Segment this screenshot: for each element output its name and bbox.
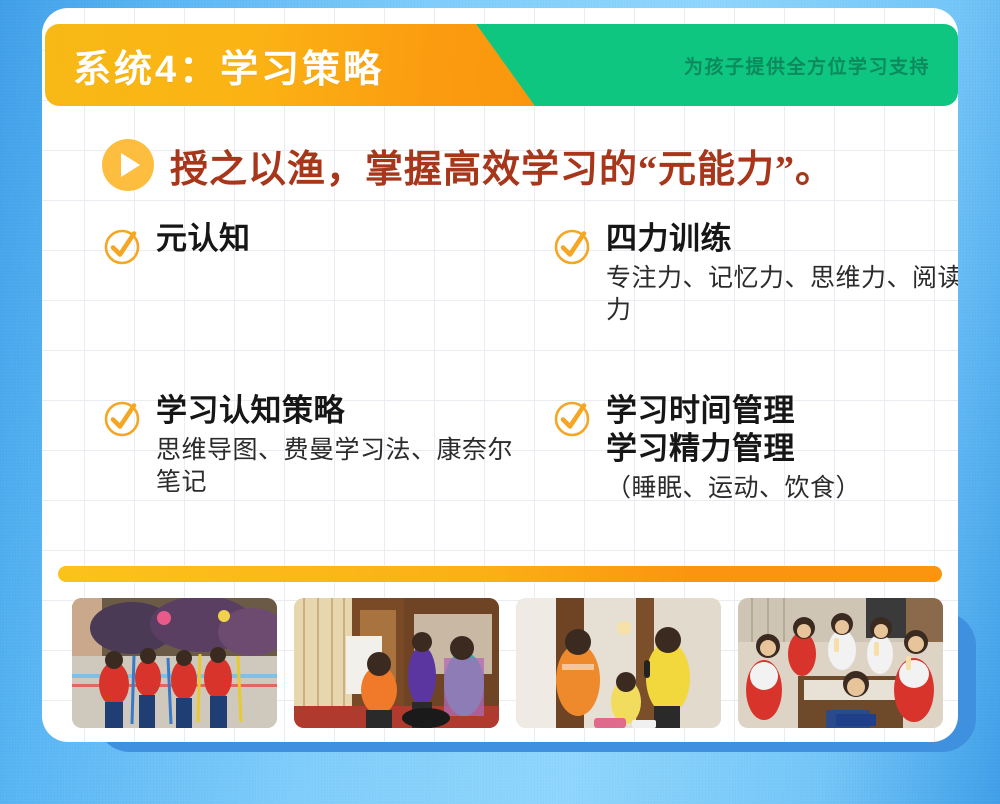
feature-title: 元认知 — [156, 220, 251, 258]
feature-body: 学习认知策略 思维导图、费曼学习法、康奈尔笔记 — [156, 392, 514, 499]
headline-row: 授之以渔，掌握高效学习的“元能力”。 — [102, 134, 958, 196]
photo-strip — [72, 598, 946, 730]
feature-item-four-powers: 四力训练 专注力、记忆力、思维力、阅读力 — [552, 220, 958, 392]
check-circle-icon — [552, 226, 592, 266]
photo-classroom-sharing — [294, 598, 499, 728]
photo-group-discussion — [738, 598, 943, 728]
page-title: 系统4：学习策略 — [45, 38, 384, 93]
content-card: 为孩子提供全方位学习支持 系统4：学习策略 授之以渔，掌握高效学习的“元能力”。… — [42, 8, 958, 742]
feature-item-time-energy-management: 学习时间管理 学习精力管理 （睡眠、运动、饮食） — [552, 392, 958, 564]
check-circle-icon — [552, 398, 592, 438]
check-circle-icon — [102, 398, 142, 438]
feature-grid: 元认知 四力训练 专注力、记忆力、思维力、阅读力 — [102, 220, 958, 560]
title-banner: 系统4：学习策略 — [45, 24, 535, 106]
headline-text: 授之以渔，掌握高效学习的“元能力”。 — [170, 138, 834, 193]
feature-title: 学习认知策略 — [156, 392, 514, 430]
feature-subtitle: （睡眠、运动、饮食） — [606, 472, 861, 505]
section-divider — [58, 566, 942, 582]
feature-body: 学习时间管理 学习精力管理 （睡眠、运动、饮食） — [606, 392, 861, 504]
photo-outdoor-team-activity — [72, 598, 277, 728]
tagline-text: 为孩子提供全方位学习支持 — [684, 52, 958, 79]
header-banner: 为孩子提供全方位学习支持 系统4：学习策略 — [42, 24, 958, 106]
feature-body: 元认知 — [156, 220, 251, 258]
feature-item-learning-strategies: 学习认知策略 思维导图、费曼学习法、康奈尔笔记 — [102, 392, 552, 564]
play-triangle — [121, 153, 140, 177]
feature-subtitle: 思维导图、费曼学习法、康奈尔笔记 — [156, 434, 514, 499]
photo-instructor-interaction — [516, 598, 721, 728]
feature-title: 学习时间管理 学习精力管理 — [606, 392, 861, 468]
play-icon — [102, 139, 154, 191]
feature-item-metacognition: 元认知 — [102, 220, 552, 392]
feature-body: 四力训练 专注力、记忆力、思维力、阅读力 — [606, 220, 958, 327]
check-circle-icon — [102, 226, 142, 266]
feature-title: 四力训练 — [606, 220, 958, 258]
feature-subtitle: 专注力、记忆力、思维力、阅读力 — [606, 262, 958, 327]
